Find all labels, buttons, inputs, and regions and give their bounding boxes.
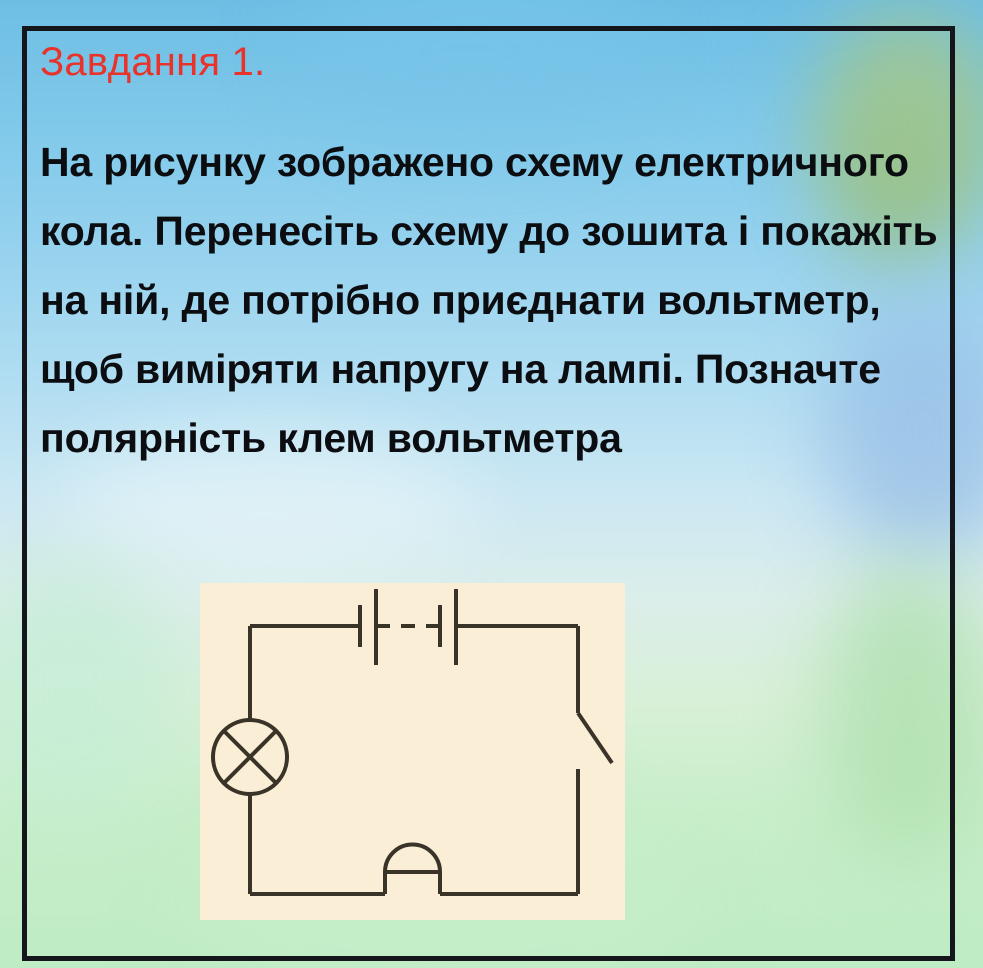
slide: Завдання 1. На рисунку зображено схему е…: [0, 0, 983, 968]
task-content: Завдання 1. На рисунку зображено схему е…: [40, 40, 940, 473]
switch-lever: [578, 713, 612, 763]
circuit-diagram: [200, 583, 625, 920]
circuit-diagram-panel: [200, 583, 625, 920]
bell-dome: [385, 845, 440, 872]
task-title: Завдання 1.: [40, 40, 940, 84]
task-body-text: На рисунку зображено схему електричного …: [40, 84, 940, 473]
